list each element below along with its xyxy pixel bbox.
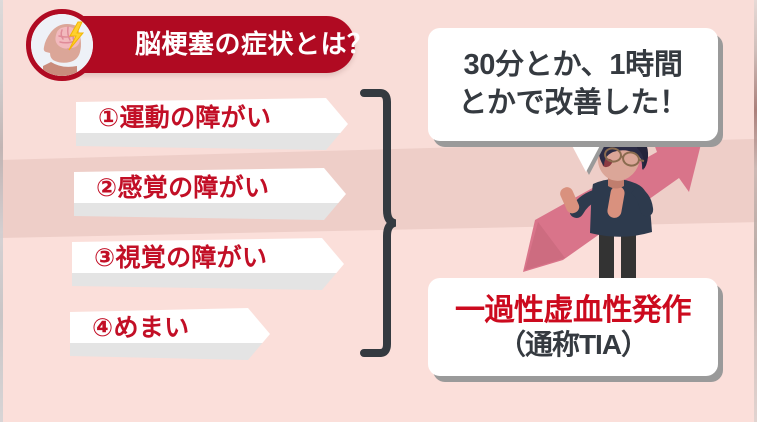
symptom-ribbon-1: ①運動の障がい (76, 98, 348, 150)
brain-head-icon (26, 9, 98, 81)
page-title: 脳梗塞の症状とは？ (135, 16, 374, 73)
speech-bubble-text: 30分とか、1時間 とかで改善した！ (428, 28, 718, 141)
speech-line-2: とかで改善した！ (458, 85, 688, 122)
person-illustration (505, 130, 745, 280)
diagnosis-card: 一過性虚血性発作 （通称TIA） (428, 278, 718, 376)
speech-bubble: 30分とか、1時間 とかで改善した！ (428, 28, 718, 141)
symptom-ribbon-4: ④めまい (70, 308, 270, 360)
slide-canvas: 脳梗塞の症状とは？ ①運動の障がい ②感覚の障 (0, 0, 757, 422)
speech-line-1: 30分とか、1時間 (463, 47, 682, 84)
symptom-ribbon-3: ③視覚の障がい (72, 238, 344, 290)
symptom-ribbon-2: ②感覚の障がい (74, 168, 346, 220)
diagnosis-title: 一過性虚血性発作 (455, 293, 691, 328)
speech-bubble-tail (568, 138, 604, 172)
symptom-label-2: ②感覚の障がい (96, 168, 269, 209)
left-edge-strip (0, 0, 3, 422)
curly-brace-right-icon (360, 88, 396, 358)
symptom-label-3: ③視覚の障がい (94, 238, 267, 279)
symptom-label-4: ④めまい (92, 308, 189, 349)
symptom-label-1: ①運動の障がい (98, 98, 271, 139)
diagnosis-subtitle: （通称TIA） (498, 328, 648, 362)
diagnosis-card-content: 一過性虚血性発作 （通称TIA） (428, 278, 718, 376)
